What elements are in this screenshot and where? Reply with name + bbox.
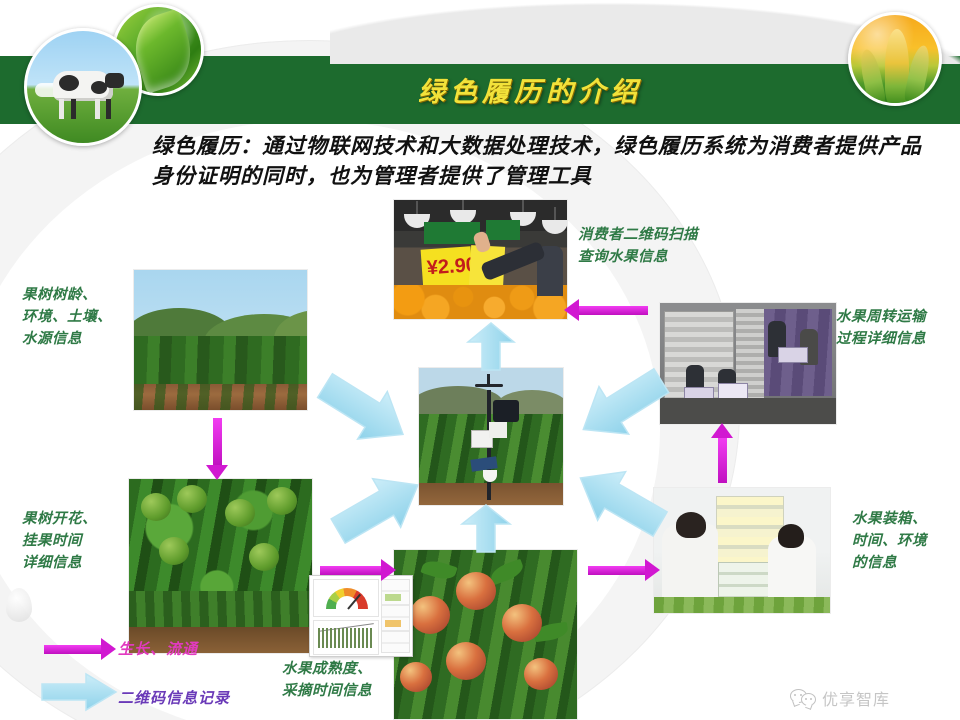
fruit-shape: [267, 487, 297, 515]
soil-region: [419, 483, 563, 505]
label-packing-info: 水果装箱、 时间、环境 的信息: [852, 508, 927, 574]
slide-canvas: 绿色履历的介绍 绿色履历：通过物联网技术和大数据处理技术，绿色履历系统为消费者提…: [0, 0, 960, 720]
cow-body-shape: [53, 71, 113, 101]
photo-orchard: [133, 269, 308, 411]
watermark: 优享智库: [790, 686, 890, 710]
carton-shape: [778, 347, 808, 363]
qr-arrow-up-right: [330, 474, 426, 542]
photo-green-fruit: [128, 478, 313, 654]
flow-arrow-right: [588, 566, 646, 575]
label-flowering-info: 果树开花、 挂果时间 详细信息: [22, 508, 97, 574]
ground-region: [660, 398, 836, 424]
fruit-shape: [225, 499, 255, 527]
fruit-shape: [249, 543, 279, 571]
subtitle-text: 绿色履历：通过物联网技术和大数据处理技术，绿色履历系统为消费者提供产品身份证明的…: [152, 131, 942, 191]
anemometer-shape: [475, 384, 503, 387]
carton-shape: [718, 383, 748, 399]
store-sign-shape: [486, 220, 520, 240]
dashboard-sidebar: [381, 579, 410, 653]
photo-iot-station: [418, 367, 564, 506]
watermark-text: 优享智库: [822, 686, 890, 710]
qr-arrow-down-left: [578, 372, 670, 436]
photo-packing-room: [653, 487, 831, 614]
cow-leg-shape: [106, 99, 111, 119]
cow-leg-shape: [71, 99, 76, 119]
photo-truck-loading: [659, 302, 837, 425]
legend-flow-label: 生长、流通: [118, 638, 198, 659]
photo-ripe-fruit: [393, 549, 578, 720]
sensor-box-shape: [493, 400, 519, 422]
fruit-shape: [159, 537, 189, 565]
fruit-shape: [177, 485, 207, 513]
flow-arrow-right: [320, 566, 382, 575]
flow-arrow-down: [213, 418, 222, 466]
fruit-shape: [141, 493, 171, 521]
qr-arrow-down-right: [316, 378, 412, 442]
fruit-shape: [524, 658, 558, 690]
legend-blue-arrow: [40, 672, 118, 712]
label-ripeness-info: 水果成熟度、 采摘时间信息: [282, 658, 372, 702]
fruit-shape: [400, 662, 432, 692]
flow-arrow-left: [578, 306, 648, 315]
fruit-shape: [502, 604, 542, 642]
cow-head-shape: [105, 73, 124, 88]
label-transport-info: 水果周转运输 过程详细信息: [836, 306, 926, 350]
fruit-shape: [456, 572, 496, 610]
water-drop-decoration: [6, 588, 32, 622]
photo-supermarket: ¥2.90: [393, 199, 568, 320]
produce-region: [654, 597, 830, 613]
photo-dashboard: [309, 575, 413, 657]
label-orchard-info: 果树树龄、 环境、土壤、 水源信息: [22, 284, 112, 350]
cow-leg-shape: [95, 99, 100, 119]
hair-shape: [778, 524, 804, 548]
fruit-shape: [446, 642, 486, 680]
fruit-shape: [410, 596, 450, 634]
wechat-icon: [790, 689, 816, 707]
chart-panel: [313, 620, 379, 655]
qr-arrow-up-left: [576, 468, 668, 536]
cow-photo-circle: [24, 28, 142, 146]
tree-canopy-region: [134, 336, 307, 390]
qr-arrow-up: [466, 322, 516, 372]
store-sign-shape: [424, 222, 480, 244]
qr-arrow-up-center: [459, 504, 513, 554]
sensor-box-shape: [489, 422, 507, 438]
gauge-dial: [326, 588, 368, 609]
legend-magenta-arrow: [44, 645, 102, 654]
soil-region: [134, 384, 307, 410]
page-title: 绿色履历的介绍: [300, 70, 760, 109]
bar-series: [318, 628, 374, 648]
flow-arrow-up: [718, 437, 727, 483]
cow-leg-shape: [59, 99, 64, 119]
hair-shape: [676, 512, 706, 538]
corn-photo-circle: [848, 12, 942, 106]
legend-qr-label: 二维码信息记录: [118, 687, 230, 708]
label-consumer-scan: 消费者二维码扫描 查询水果信息: [578, 224, 698, 268]
gauge-panel: [313, 579, 379, 617]
